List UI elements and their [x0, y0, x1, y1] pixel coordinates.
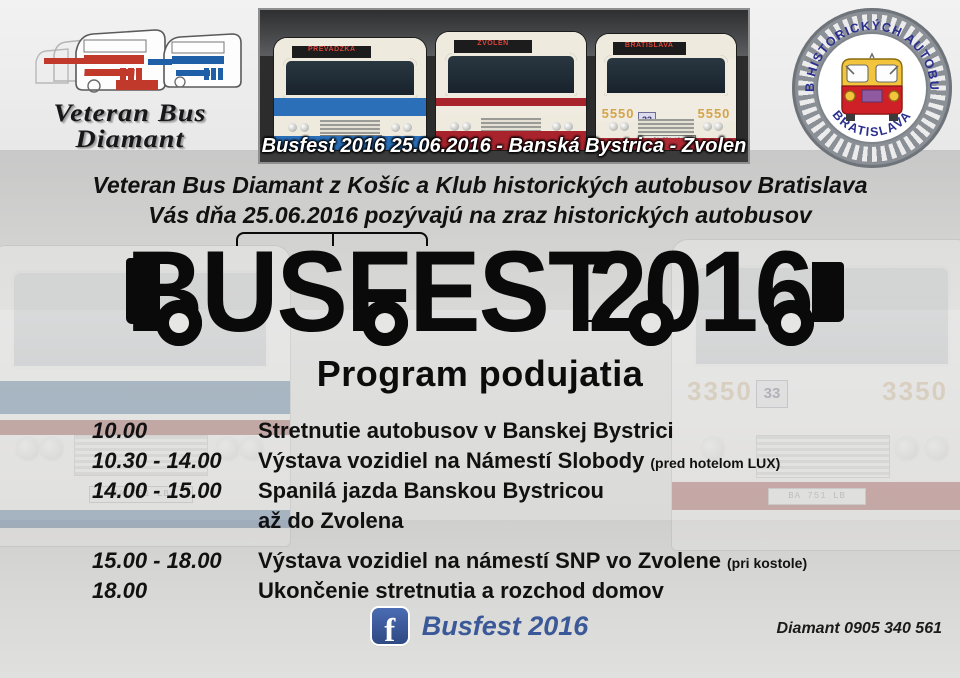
photo-bus-2: ZVOLEN BA 456 CD	[436, 32, 586, 150]
program-list: 10.00 Stretnutie autobusov v Banskej Bys…	[92, 418, 892, 608]
program-description: Spanilá jazda Banskou Bystricou	[258, 478, 604, 504]
program-row: 14.00 - 15.00 Spanilá jazda Banskou Byst…	[92, 478, 892, 508]
bus-stripe	[436, 98, 586, 106]
bus-windshield	[445, 53, 577, 95]
bus-fleet-number: 5550	[697, 106, 730, 121]
photo-bus-1: PREVADZKA BA 123 AB	[274, 38, 426, 150]
title-wheel-2	[362, 300, 408, 346]
program-note: (pred hotelom LUX)	[650, 455, 780, 471]
program-heading: Program podujatia	[0, 353, 960, 395]
logo-bus-outlines	[24, 22, 244, 104]
bus-grille	[638, 119, 694, 134]
klub-historickych-autobusov-emblem: KLUB HISTORICKÝCH AUTOBUSOV BRATISLAVA	[792, 8, 952, 168]
program-description: Výstava vozidiel na Námestí Slobody	[258, 448, 644, 474]
program-row: 10.30 - 14.00 Výstava vozidiel na Námest…	[92, 448, 892, 478]
bus-destination-sign: PREVADZKA	[292, 46, 371, 58]
bus-headlamp	[552, 122, 561, 131]
bus-headlamp	[609, 122, 618, 131]
bus-grille	[320, 120, 381, 135]
program-row: 15.00 - 18.00 Výstava vozidiel na námest…	[92, 548, 892, 578]
title-wheel-1	[156, 300, 202, 346]
title-bus-roofline	[236, 232, 428, 246]
bus-headlamp	[564, 122, 573, 131]
bus-windshield	[283, 58, 417, 98]
poster-canvas: BA 751 LB 3350 3350 33 BA 751 LB	[0, 0, 960, 678]
bus-headlamp	[17, 438, 39, 460]
bus-headlamp	[300, 123, 309, 132]
program-description: Ukončenie stretnutia a rozchod domov	[258, 578, 664, 604]
facebook-glyph: f	[372, 615, 408, 648]
title-bus-nose-right	[812, 262, 844, 322]
program-description: Výstava vozidiel na námestí SNP vo Zvole…	[258, 548, 721, 574]
program-note: (pri kostole)	[727, 555, 807, 571]
program-time: 15.00 - 18.00	[92, 548, 258, 574]
emblem-bus-icon	[830, 52, 914, 124]
title-wheel-3	[628, 300, 674, 346]
facebook-icon[interactable]: f	[372, 608, 408, 644]
facebook-page-name[interactable]: Busfest 2016	[422, 611, 589, 642]
title-bus-nose-left	[126, 258, 160, 324]
bus-destination-sign: BRATISLAVA	[613, 42, 686, 55]
program-description: až do Zvolena	[258, 508, 403, 534]
title-wheel-4	[768, 300, 814, 346]
veteran-bus-diamant-logo: Veteran Bus Diamant	[10, 18, 250, 150]
program-row: 10.00 Stretnutie autobusov v Banskej Bys…	[92, 418, 892, 448]
bus-stripe	[274, 98, 426, 116]
program-time: 14.00 - 15.00	[92, 478, 258, 504]
bus-headlamp	[41, 438, 63, 460]
program-row-continuation: až do Zvolena	[92, 508, 892, 538]
bus-headlamp	[288, 123, 297, 132]
bus-headlamp	[450, 122, 459, 131]
program-time: 10.30 - 14.00	[92, 448, 258, 474]
bus-destination-sign: ZVOLEN	[454, 40, 532, 53]
program-row: 18.00 Ukončenie stretnutia a rozchod dom…	[92, 578, 892, 608]
photo-caption: Busfest 2016 25.06.2016 - Banská Bystric…	[260, 135, 748, 158]
program-time: 10.00	[92, 418, 258, 444]
contact-phone: Diamant 0905 340 561	[777, 620, 942, 638]
photo-bus-3: BRATISLAVA 5550 5550 33 BA 751 LB	[596, 34, 736, 150]
bus-headlamp	[462, 122, 471, 131]
logo-line-2: Diamant	[0, 126, 264, 154]
bus-windshield	[604, 55, 727, 97]
bus-fleet-number: 5550	[602, 106, 635, 121]
program-time: 18.00	[92, 578, 258, 604]
invitation-block: Veteran Bus Diamant z Košíc a Klub histo…	[0, 170, 960, 230]
invitation-line-1: Veteran Bus Diamant z Košíc a Klub histo…	[0, 170, 960, 200]
header-photo: PREVADZKA BA 123 AB ZVOLEN BA 456	[258, 8, 750, 164]
program-description: Stretnutie autobusov v Banskej Bystrici	[258, 418, 674, 444]
logo-line-1: Veteran Bus	[0, 100, 264, 128]
